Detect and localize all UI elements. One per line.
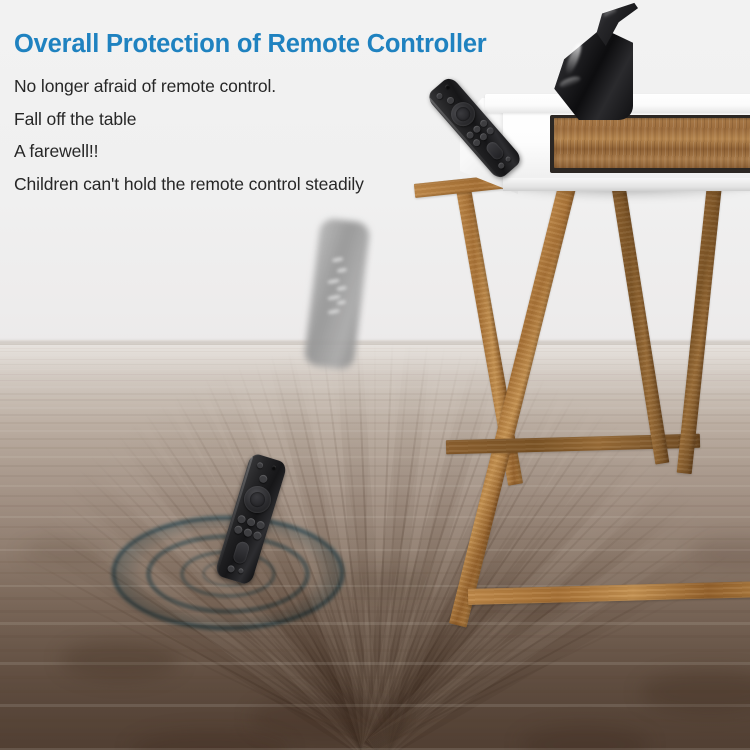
a-frame-trestle-legs (420, 185, 750, 645)
menu-button (256, 520, 266, 530)
drawer-wood-front (554, 118, 750, 168)
feature-line: Fall off the table (14, 109, 484, 130)
product-marketing-image: Overall Protection of Remote Controller … (0, 0, 750, 750)
voice-button (258, 474, 268, 484)
feature-line: A farewell!! (14, 141, 484, 162)
floor-weathering-patch (20, 540, 110, 564)
floor-weathering-patch (250, 695, 400, 741)
back-button (237, 514, 247, 524)
mute-button (227, 564, 236, 573)
dpad-ring (241, 483, 275, 517)
desk-lower-skirt (503, 178, 750, 191)
feature-text-list: No longer afraid of remote control. Fall… (14, 76, 484, 206)
volume-rocker (232, 540, 251, 565)
mute-button (497, 161, 505, 169)
home-button (246, 517, 256, 527)
bird-body (551, 28, 633, 120)
play-pause-button (243, 528, 253, 538)
floor-grain-line (0, 690, 750, 693)
leg-cross-brace-lower (468, 581, 750, 605)
settings-button (238, 568, 244, 574)
forward-button (252, 531, 262, 541)
floor-weathering-patch (60, 640, 180, 680)
rewind-button (233, 525, 243, 535)
power-button (256, 462, 263, 469)
settings-button (505, 156, 512, 163)
mic-hole (272, 465, 277, 470)
feature-line: Children can't hold the remote control s… (14, 174, 484, 195)
black-bird-figurine (545, 2, 655, 120)
feature-line: No longer afraid of remote control. (14, 76, 484, 97)
page-title: Overall Protection of Remote Controller (14, 30, 487, 59)
volume-rocker (484, 140, 506, 162)
